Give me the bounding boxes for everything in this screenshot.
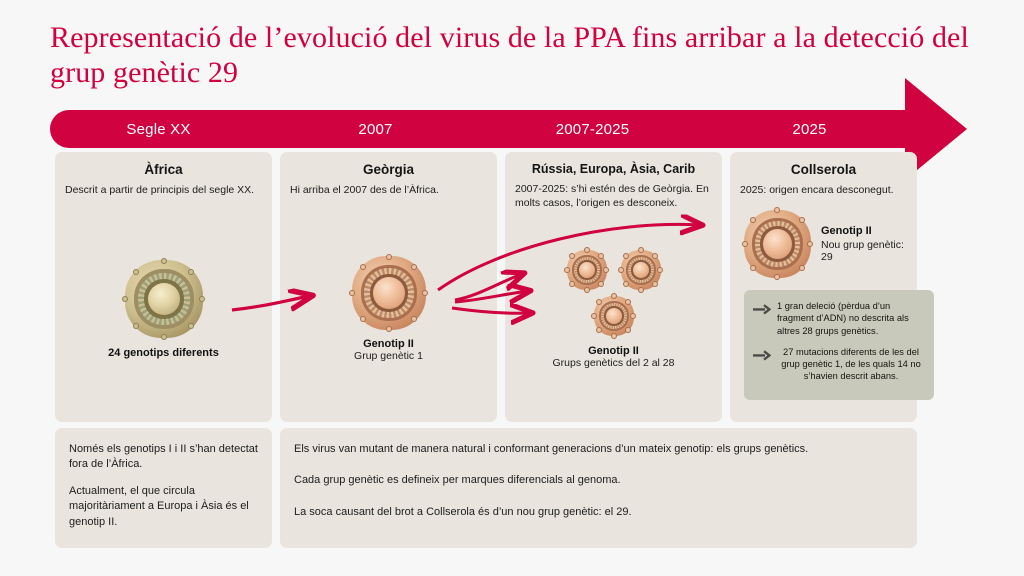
bottom-box-left: Només els genotips I i II s’han detectat… (55, 428, 272, 548)
caption-russia: Genotip II Grups genètics del 2 al 28 (505, 345, 722, 369)
timeline-labels: Segle XX 2007 2007-2025 2025 (50, 110, 918, 148)
column-subtitle-collserola: 2025: origen encara desconegut. (740, 183, 907, 197)
note-item: 1 gran deleció (pèrdua d’un fragment d’A… (753, 300, 925, 337)
collserola-virus-labels: Genotip II Nou grup genètic: 29 (821, 225, 917, 263)
bottom-notes: Només els genotips I i II s’han detectat… (55, 428, 917, 548)
caption-collserola-bold: Genotip II (821, 225, 917, 237)
column-title-collserola: Collserola (740, 162, 907, 177)
note-item: 27 mutacions diferents de les del grup g… (753, 346, 925, 383)
virus-particle-small-1 (567, 250, 607, 290)
column-title-africa: Àfrica (65, 162, 262, 177)
virus-particle-salmon (352, 256, 426, 330)
virus-spikes (125, 260, 203, 338)
caption-africa-text: 24 genotips diferents (55, 347, 272, 359)
timeline-label-3: 2025 (701, 110, 918, 148)
bottom-box-right: Els virus van mutant de manera natural i… (280, 428, 917, 548)
infographic-root: Representació de l’evolució del virus de… (0, 0, 1024, 576)
timeline-label-1: 2007 (267, 110, 484, 148)
virus-particle-collserola (744, 210, 811, 278)
column-subtitle-africa: Descrit a partir de principis del segle … (65, 183, 262, 197)
caption-africa: 24 genotips diferents (55, 347, 272, 359)
bottom-left-text-2: Actualment, el que circula majoritàriame… (69, 484, 258, 530)
column-russia-europa-asia-carib: Rússia, Europa, Àsia, Carib 2007-2025: s… (505, 152, 722, 422)
note-text-2: 27 mutacions diferents de les del grup g… (777, 346, 925, 383)
column-title-russia: Rússia, Europa, Àsia, Carib (515, 162, 712, 176)
collserola-notes-box: 1 gran deleció (pèrdua d’un fragment d’A… (744, 290, 934, 400)
timeline-label-0: Segle XX (50, 110, 267, 148)
bottom-right-text-3: La soca causant del brot a Collserola és… (294, 505, 903, 520)
column-subtitle-russia: 2007-2025: s’hi estén des de Geòrgia. En… (515, 182, 712, 210)
virus-spikes (744, 210, 811, 278)
column-collserola: Collserola 2025: origen encara desconegu… (730, 152, 917, 422)
column-title-georgia: Geòrgia (290, 162, 487, 177)
caption-georgia-regular: Grup genètic 1 (280, 350, 497, 362)
caption-georgia-bold: Genotip II (280, 338, 497, 350)
virus-spikes (352, 256, 426, 330)
timeline-label-2: 2007-2025 (484, 110, 701, 148)
column-georgia: Geòrgia Hi arriba el 2007 des de l’Àfric… (280, 152, 497, 422)
caption-russia-regular: Grups genètics del 2 al 28 (505, 357, 722, 369)
bottom-right-text-2: Cada grup genètic es defineix per marque… (294, 473, 903, 488)
column-subtitle-georgia: Hi arriba el 2007 des de l’Àfrica. (290, 183, 487, 197)
bottom-right-text-1: Els virus van mutant de manera natural i… (294, 442, 903, 457)
virus-particle-gold (125, 260, 203, 338)
virus-particle-small-2 (621, 250, 661, 290)
bottom-left-text-1: Només els genotips I i II s’han detectat… (69, 442, 258, 473)
virus-particle-small-3 (594, 296, 634, 336)
collserola-virus-row: Genotip II Nou grup genètic: 29 (744, 210, 917, 278)
stage-columns: Àfrica Descrit a partir de principis del… (55, 152, 917, 422)
right-arrow-icon (753, 346, 771, 383)
caption-russia-bold: Genotip II (505, 345, 722, 357)
right-arrow-icon (753, 300, 771, 337)
column-africa: Àfrica Descrit a partir de principis del… (55, 152, 272, 422)
caption-georgia: Genotip II Grup genètic 1 (280, 338, 497, 362)
page-title: Representació de l’evolució del virus de… (50, 20, 990, 91)
note-text-1: 1 gran deleció (pèrdua d’un fragment d’A… (777, 300, 925, 337)
caption-collserola-regular: Nou grup genètic: 29 (821, 239, 917, 263)
